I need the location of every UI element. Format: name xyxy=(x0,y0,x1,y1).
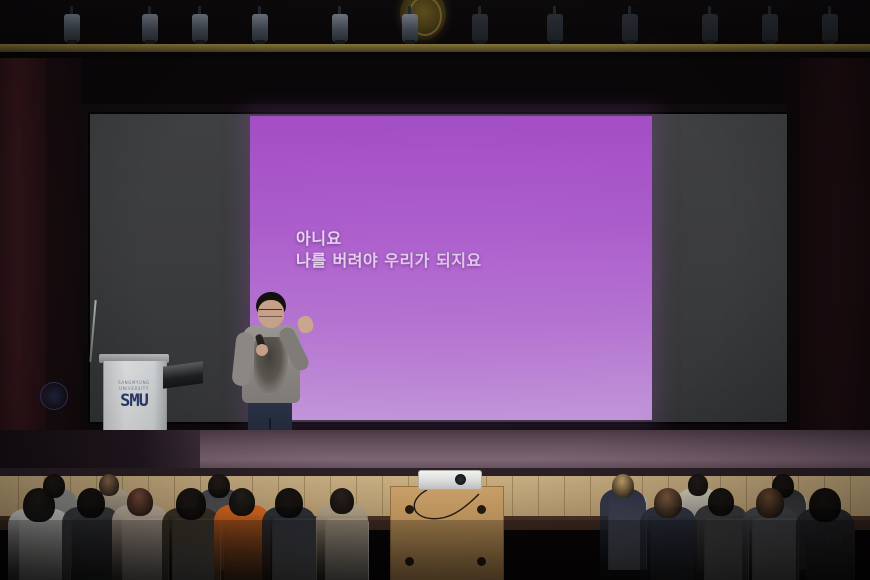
presenter-hand-right xyxy=(296,314,315,334)
presenter-hand-left xyxy=(256,344,268,356)
stage-floor-shadow xyxy=(0,430,200,472)
audience-member-head xyxy=(708,488,734,516)
podium-logo: SANGMYUNG UNIVERSITY SMU xyxy=(110,380,158,408)
audience-member-head xyxy=(176,488,205,520)
stage-curtain-right xyxy=(800,58,870,468)
slide-line-1: 아니요 xyxy=(296,228,636,250)
audience-member-torso xyxy=(316,504,368,580)
audience-front-row xyxy=(0,470,870,580)
stage-curtain-left xyxy=(0,58,46,468)
lighting-truss-bar xyxy=(0,44,870,52)
audience-member-head xyxy=(809,488,840,522)
audience-member-head xyxy=(330,488,354,514)
glasses-icon xyxy=(259,309,282,317)
slide-text-block: 아니요 나를 버려야 우리가 되지요 xyxy=(296,228,636,272)
audience-member-head xyxy=(127,488,153,516)
audience-member-torso xyxy=(112,505,168,580)
audience-member-head xyxy=(756,488,784,518)
audience-member-head xyxy=(23,488,54,522)
podium-logo-subtext: SANGMYUNG UNIVERSITY xyxy=(110,380,158,392)
lecture-hall-photo: 아니요 나를 버려야 우리가 되지요 SANGMYUNG UNIVERSITY … xyxy=(0,0,870,580)
slide-line-2: 나를 버려야 우리가 되지요 xyxy=(296,250,636,272)
podium-logo-text: SMU xyxy=(110,392,158,410)
audience-member-head xyxy=(654,488,682,518)
proscenium-band xyxy=(0,58,870,104)
audience-member-head xyxy=(77,488,105,518)
wall-seal-icon xyxy=(40,382,68,410)
audience-member-head xyxy=(229,488,255,516)
audience-member-head xyxy=(275,488,303,518)
audience-member-torso xyxy=(694,505,748,580)
